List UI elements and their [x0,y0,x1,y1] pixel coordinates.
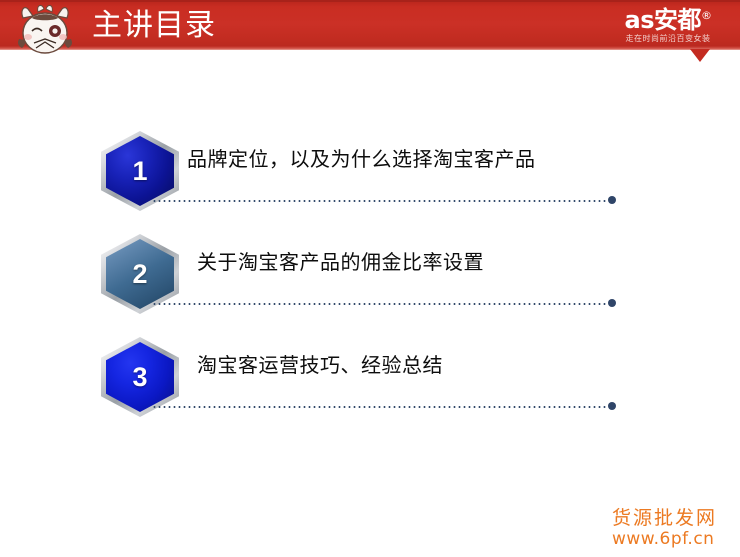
brand-logo-name: as安都® [608,3,728,33]
agenda-connector-line [152,406,610,408]
brand-logo: as安都® 走在时尚前沿百变女装 [608,3,728,48]
brand-logo-tagline: 走在时尚前沿百变女装 [608,33,728,45]
agenda-connector-end-dot [608,299,616,307]
agenda-connector-line [152,200,610,202]
agenda-item-3[interactable]: 3 淘宝客运营技巧、经验总结 [0,324,740,427]
agenda-item-label: 淘宝客运营技巧、经验总结 [197,351,443,379]
agenda-item-2[interactable]: 2 关于淘宝客产品的佣金比率设置 [0,221,740,324]
triangle-down-icon [690,49,710,62]
watermark: 货源批发网 www.6pf.cn [612,507,732,549]
brand-logo-text: as安都 [625,6,701,34]
watermark-url: www.6pf.cn [612,529,732,549]
agenda-number-hexagon: 1 [101,131,179,211]
agenda-number-hexagon: 3 [101,337,179,417]
cat-mascot-icon [14,2,76,58]
agenda-connector-end-dot [608,196,616,204]
agenda-list: 1 品牌定位，以及为什么选择淘宝客产品 2 关于淘宝客产品的佣金比率设置 3 [0,118,740,427]
agenda-connector-line [152,303,610,305]
page-title: 主讲目录 [92,4,216,48]
agenda-item-number: 3 [101,337,179,417]
presentation-slide: 主讲目录 as安都® 走在时尚前沿百变女装 1 品牌定位，以及为什么选择淘宝客产… [0,0,740,557]
agenda-item-number: 1 [101,131,179,211]
agenda-item-label: 关于淘宝客产品的佣金比率设置 [197,248,484,276]
agenda-connector-end-dot [608,402,616,410]
slide-header-bar: 主讲目录 as安都® 走在时尚前沿百变女装 [0,0,740,50]
agenda-item-label: 品牌定位，以及为什么选择淘宝客产品 [187,145,536,173]
agenda-item-number: 2 [101,234,179,314]
watermark-site-name: 货源批发网 [612,507,732,529]
agenda-number-hexagon: 2 [101,234,179,314]
registered-mark-icon: ® [701,9,712,22]
agenda-item-1[interactable]: 1 品牌定位，以及为什么选择淘宝客产品 [0,118,740,221]
